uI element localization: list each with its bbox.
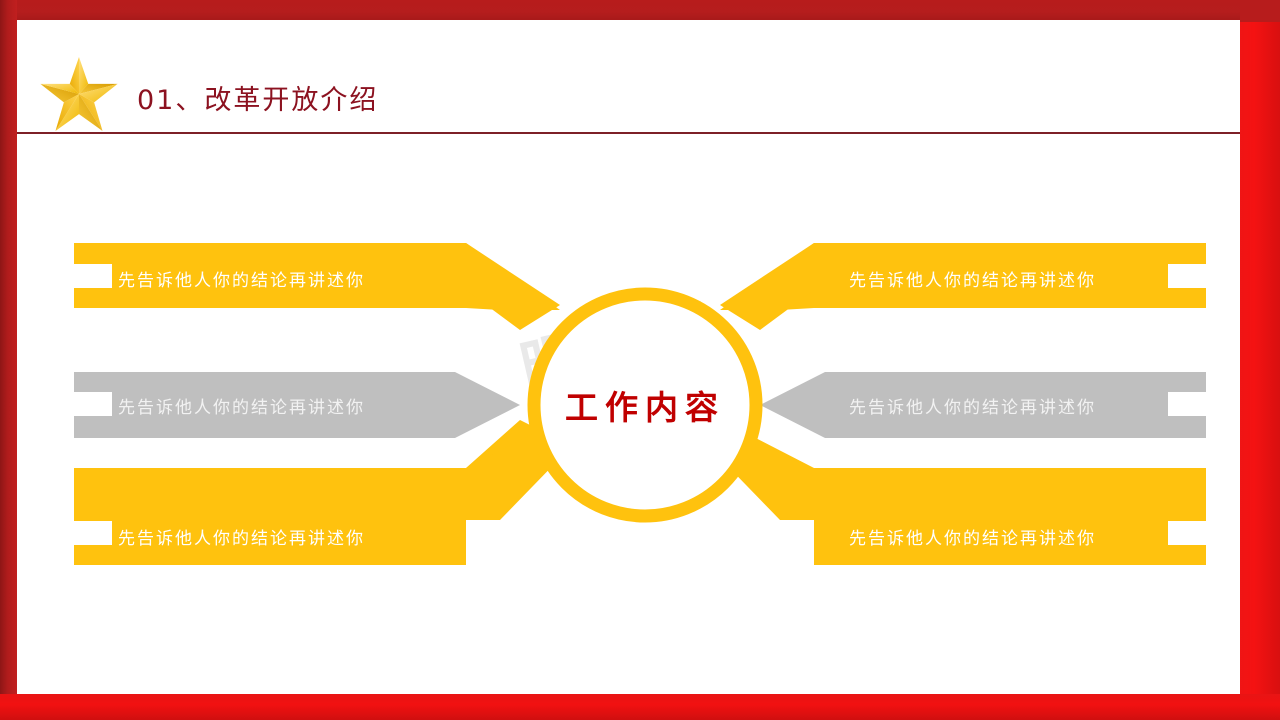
slide-canvas: 01、改革开放介绍 昵图网 xyxy=(0,0,1280,720)
center-circle-label: 工作内容 xyxy=(512,375,778,435)
mindmap-diagram xyxy=(0,0,1280,720)
branch-label-bottom-right: 先告诉他人你的结论再讲述你 xyxy=(849,524,1096,549)
branch-label-middle-left: 先告诉他人你的结论再讲述你 xyxy=(118,393,365,418)
branch-label-top-left: 先告诉他人你的结论再讲述你 xyxy=(118,266,365,291)
branch-label-top-right: 先告诉他人你的结论再讲述你 xyxy=(849,266,1096,291)
branch-label-bottom-left: 先告诉他人你的结论再讲述你 xyxy=(118,524,365,549)
branch-label-middle-right: 先告诉他人你的结论再讲述你 xyxy=(849,393,1096,418)
